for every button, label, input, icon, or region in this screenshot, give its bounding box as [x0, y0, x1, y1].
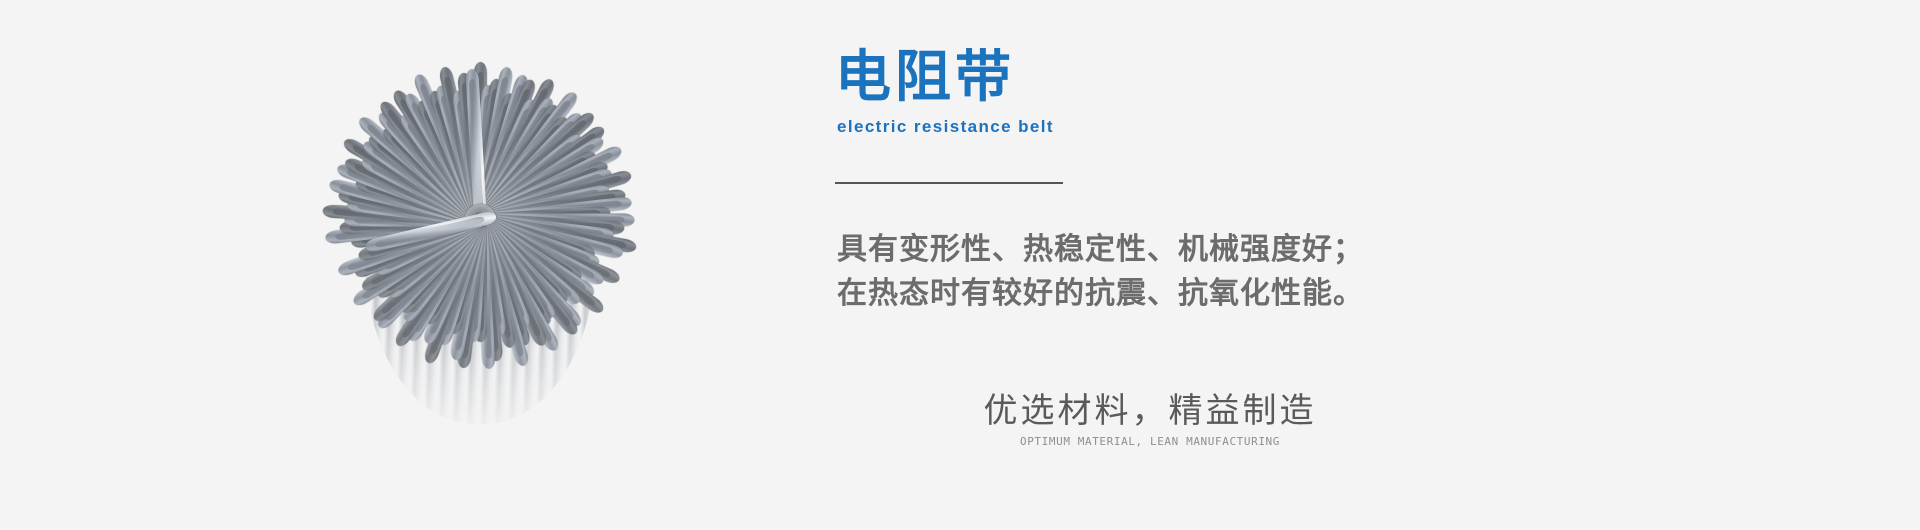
- tagline-cn: 优选材料，精益制造: [935, 392, 1365, 431]
- product-banner: 电阻带 electric resistance belt 具有变形性、热稳定性、…: [0, 0, 1920, 530]
- product-image: [300, 45, 660, 395]
- description-line-2: 在热态时有较好的抗震、抗氧化性能。: [837, 272, 1364, 316]
- title-divider: [835, 182, 1063, 184]
- resistance-belt-coil-photo: [300, 45, 660, 395]
- page-title: 电阻带: [835, 48, 1054, 107]
- description-line-1: 具有变形性、热稳定性、机械强度好；: [837, 228, 1364, 272]
- page-subtitle: electric resistance belt: [837, 117, 1054, 137]
- banner-content: 电阻带 electric resistance belt 具有变形性、热稳定性、…: [835, 0, 1535, 530]
- product-description: 具有变形性、热稳定性、机械强度好； 在热态时有较好的抗震、抗氧化性能。: [837, 228, 1364, 316]
- tagline-block: 优选材料，精益制造 OPTIMUM MATERIAL, LEAN MANUFAC…: [935, 392, 1365, 448]
- tagline-en: OPTIMUM MATERIAL, LEAN MANUFACTURING: [935, 435, 1365, 448]
- heading-block: 电阻带 electric resistance belt: [835, 48, 1054, 137]
